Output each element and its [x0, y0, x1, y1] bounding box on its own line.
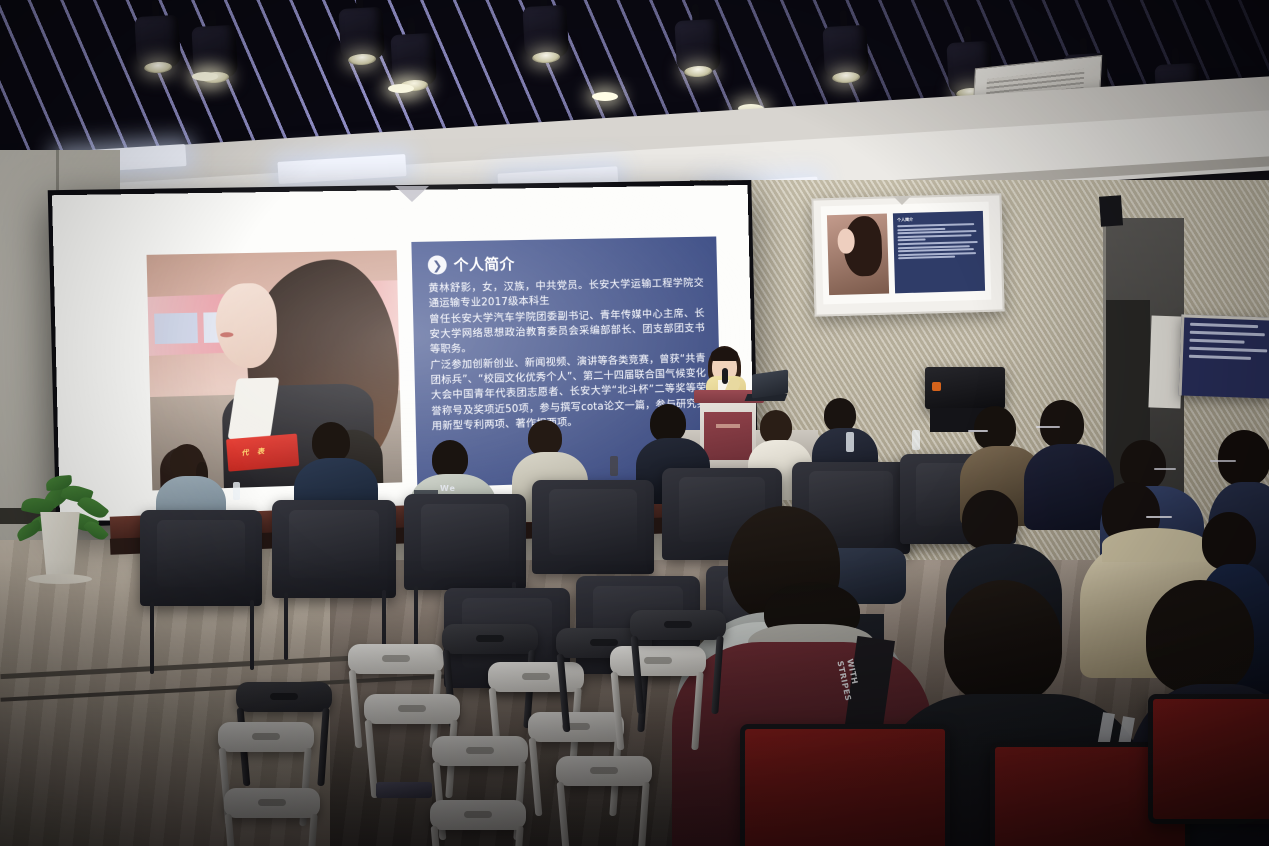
seat-leg — [250, 600, 254, 670]
monitor-slide: 个人简介 — [893, 211, 985, 293]
wall-monitor[interactable]: 个人简介 — [821, 202, 992, 305]
monitor-photo — [827, 214, 889, 296]
auditorium-seat[interactable] — [532, 480, 654, 574]
right-wall-display[interactable] — [1179, 314, 1269, 398]
chevron-right-icon: ❯ — [428, 255, 447, 274]
seat-leg — [414, 586, 418, 650]
red-seat[interactable] — [740, 724, 950, 846]
stage-light — [338, 3, 386, 75]
ceiling-downlight — [192, 72, 218, 81]
jbl-logo-icon — [932, 382, 941, 391]
red-seat[interactable] — [1148, 694, 1269, 824]
photo-badge-text: 代 表 — [241, 446, 268, 458]
stage-light — [191, 21, 239, 93]
water-bottle — [912, 430, 920, 450]
water-bottle — [233, 482, 240, 500]
stage-light — [674, 15, 722, 87]
seat-leg — [150, 602, 154, 674]
water-bottle — [846, 432, 854, 452]
plant-saucer — [28, 574, 92, 584]
lecture-hall-photo: 代 表 ❯ 个人简介 黄林舒影，女，汉族，中共党员。长安大学运输工程学院交通运输… — [0, 0, 1269, 846]
wall-speaker — [1099, 195, 1123, 226]
auditorium-seat[interactable] — [272, 500, 396, 598]
auditorium-seat[interactable] — [404, 494, 526, 590]
laptop-screen — [752, 369, 788, 398]
monitor-slide-title: 个人简介 — [897, 215, 979, 223]
stacking-chair[interactable] — [556, 756, 652, 846]
stage-light — [134, 11, 182, 83]
stacking-chair[interactable] — [430, 800, 526, 846]
pa-speaker — [925, 367, 1005, 409]
microphone-icon — [722, 368, 728, 384]
tablet-arm — [376, 782, 432, 798]
presenter-hair-front — [711, 348, 738, 361]
slide-heading: ❯ 个人简介 — [428, 253, 515, 276]
thermos — [610, 456, 618, 476]
stacking-chair[interactable] — [224, 788, 320, 846]
ceiling-downlight — [388, 84, 414, 93]
seat-leg — [284, 592, 288, 660]
stacking-chair[interactable] — [630, 610, 726, 714]
slide-paragraph: 曾任长安大学汽车学院团委副书记、青年传媒中心主席、长安大学网络思想政治教育委员会… — [429, 306, 706, 358]
stage-light — [522, 1, 570, 73]
stage-light — [822, 21, 870, 93]
slide-title: 个人简介 — [453, 253, 515, 275]
podium-front-panel — [704, 412, 752, 460]
podium-emblem — [716, 424, 740, 428]
ceiling-downlight — [592, 92, 618, 101]
hood — [1102, 528, 1208, 562]
auditorium-seat[interactable] — [140, 510, 262, 606]
